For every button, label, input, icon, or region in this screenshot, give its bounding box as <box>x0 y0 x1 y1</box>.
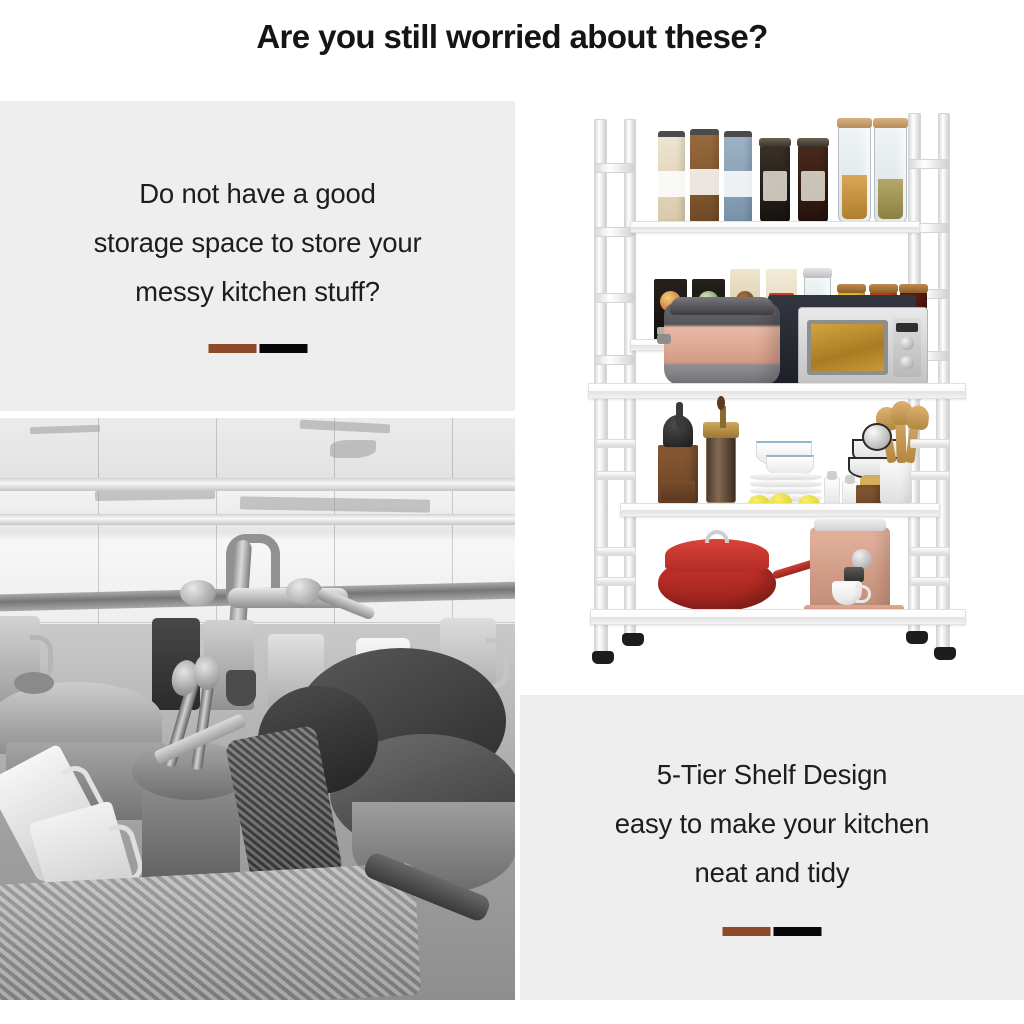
problem-statement-panel: Do not have a good storage space to stor… <box>0 101 515 411</box>
grinder-drawer <box>661 481 695 500</box>
rack-foot <box>906 631 928 644</box>
microwave-control-panel <box>893 318 921 377</box>
shelf-item-jar <box>798 145 828 223</box>
pan-lid <box>665 539 769 571</box>
shelf-item-coffee-grinder <box>658 445 698 503</box>
jar-lid <box>759 138 791 147</box>
problem-line-2: storage space to store your <box>0 218 515 267</box>
microwave-dial <box>900 356 914 370</box>
shelf-rail-left <box>596 547 636 556</box>
shelf-item-espresso-cup <box>832 581 862 605</box>
rack-foot <box>934 647 956 660</box>
rack-ladder-rung <box>594 293 636 303</box>
shelf-item-rice-cooker <box>664 303 780 385</box>
divider-segment-brown <box>208 344 256 353</box>
solution-line-3: neat and tidy <box>520 848 1024 897</box>
shelf-rail-right <box>910 439 950 448</box>
dish-pile <box>0 624 515 1000</box>
plate <box>750 487 822 494</box>
problem-line-1: Do not have a good <box>0 169 515 218</box>
shelf-item-french-press <box>706 433 736 503</box>
rack-foot <box>622 633 644 646</box>
canister-lid <box>658 131 685 137</box>
shelf-item-glass-jar <box>838 125 871 223</box>
rice-cooker-lid <box>670 297 774 315</box>
shelf-item-canister <box>724 131 752 223</box>
shelf-item-enamel-cup <box>862 423 892 451</box>
page-title: Are you still worried about these? <box>0 18 1024 56</box>
rack-ladder-rung <box>594 163 636 173</box>
shelf-rail-left <box>596 577 636 586</box>
canister-label <box>690 169 719 195</box>
glass-jar-contents <box>842 175 867 219</box>
divider-segment-black <box>259 344 307 353</box>
grinder-crank <box>676 402 683 428</box>
glass-canister-lid <box>803 268 832 278</box>
solution-line-1: 5-Tier Shelf Design <box>520 750 1024 799</box>
glass-jar-lid <box>837 118 872 128</box>
jar-label <box>763 171 788 201</box>
solution-divider <box>723 927 822 936</box>
solution-statement-panel: 5-Tier Shelf Design easy to make your ki… <box>520 695 1024 1000</box>
shelf-rail-right <box>910 547 950 556</box>
espresso-top-plate <box>814 519 886 531</box>
shelf-rail-left <box>596 471 636 480</box>
shelf-item-red-frying-pan <box>658 555 776 611</box>
jar-lid <box>797 138 829 147</box>
shelf-item-glass-jar <box>874 125 907 223</box>
plate <box>750 480 822 487</box>
wooden-spoon-head <box>906 404 931 431</box>
spoon-head <box>194 654 220 690</box>
shelf-rail-left <box>596 439 636 448</box>
rice-cooker-handle <box>657 334 671 344</box>
wall-ledge <box>0 478 515 491</box>
faucet-knob <box>180 580 216 606</box>
glass-jar-contents <box>878 179 903 219</box>
problem-line-3: messy kitchen stuff? <box>0 267 515 316</box>
wall-ledge <box>0 514 515 525</box>
problem-statement-text: Do not have a good storage space to stor… <box>0 169 515 316</box>
shelf-board-worktop <box>588 383 966 399</box>
rack-ladder-rung <box>908 159 950 169</box>
jar-label <box>801 171 826 201</box>
microwave-display <box>896 323 917 332</box>
product-shelf-photo <box>520 95 1024 695</box>
microwave-door <box>807 320 888 375</box>
messy-kitchen-photo <box>0 418 515 1000</box>
french-press-knob <box>717 396 725 410</box>
shelf-item-jar <box>760 145 790 223</box>
canister-lid <box>724 131 752 137</box>
solution-statement-text: 5-Tier Shelf Design easy to make your ki… <box>520 750 1024 897</box>
canister-lid <box>690 129 719 135</box>
pan-lid-knob <box>705 530 729 542</box>
shelf-board-tier-1 <box>630 221 920 233</box>
problem-divider <box>208 344 307 353</box>
plate <box>750 473 822 480</box>
messy-kitchen-scene <box>0 418 515 1000</box>
pot-lid-knob <box>14 672 54 694</box>
baker-rack <box>580 103 970 673</box>
shelf-rail-right <box>910 471 950 480</box>
canister-label <box>658 171 685 197</box>
shelf-item-microwave <box>798 307 928 385</box>
rack-ladder-rung <box>594 355 636 365</box>
shelf-rail-right <box>910 577 950 586</box>
faucet-knob <box>286 578 322 604</box>
solution-line-2: easy to make your kitchen <box>520 799 1024 848</box>
jar-lid <box>869 284 898 293</box>
shelf-item-canister <box>658 131 685 223</box>
divider-segment-black <box>774 927 822 936</box>
shelf-board-bottom <box>590 609 966 625</box>
jar-lid <box>899 284 928 293</box>
microwave-dial <box>900 337 914 351</box>
shelf-item-canister <box>690 129 719 223</box>
kitchen-towel <box>0 863 421 1000</box>
wall-paint-chip <box>330 440 376 458</box>
rack-foot <box>592 651 614 664</box>
shaker-cap <box>827 471 838 480</box>
glass-jar-lid <box>873 118 908 128</box>
shelf-board-tier-4 <box>620 503 940 517</box>
shelf-item-utensil-crock <box>880 459 912 507</box>
jar-lid <box>837 284 866 293</box>
canister-label <box>724 171 752 197</box>
divider-segment-brown <box>723 927 771 936</box>
infographic-page: Are you still worried about these? Do no… <box>0 0 1024 1024</box>
shaker-cap <box>845 475 856 484</box>
brush-head <box>226 670 256 706</box>
